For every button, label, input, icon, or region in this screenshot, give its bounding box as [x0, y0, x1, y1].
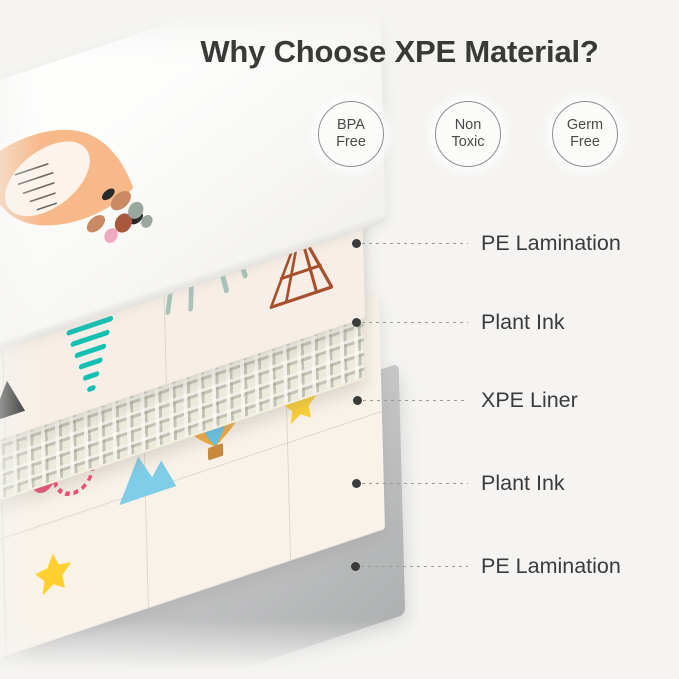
- page-title: Why Choose XPE Material?: [0, 34, 679, 70]
- infographic-canvas: Why Choose XPE Material? BPA Free Non To…: [0, 0, 679, 679]
- callout-label: PE Lamination: [481, 231, 621, 256]
- badge-germ-free-line2: Free: [570, 134, 600, 151]
- star-icon: [32, 544, 75, 604]
- badge-non-toxic-line2: Toxic: [451, 134, 484, 151]
- callout-label: PE Lamination: [481, 554, 621, 579]
- callout-label: XPE Liner: [481, 388, 578, 413]
- callout-dot: [352, 318, 361, 327]
- callout-dot: [353, 396, 362, 405]
- callout-xpe-liner: XPE Liner: [353, 386, 578, 414]
- badge-bpa-free-line2: Free: [336, 134, 366, 151]
- callout-plant-ink-bottom: Plant Ink: [352, 469, 565, 497]
- callout-leader-line: [363, 400, 468, 401]
- callout-leader-line: [362, 483, 468, 484]
- callout-dot: [352, 239, 361, 248]
- badge-bpa-free[interactable]: BPA Free: [318, 101, 384, 167]
- badge-non-toxic-line1: Non: [455, 117, 482, 134]
- callout-plant-ink-top: Plant Ink: [352, 308, 565, 336]
- badge-non-toxic[interactable]: Non Toxic: [435, 101, 501, 167]
- badge-bpa-free-line1: BPA: [337, 117, 365, 134]
- callout-leader-line: [361, 566, 468, 567]
- badge-germ-free[interactable]: Germ Free: [552, 101, 618, 167]
- callout-leader-line: [362, 322, 468, 323]
- callout-label: Plant Ink: [481, 310, 565, 335]
- callout-pe-lamination-bottom: PE Lamination: [351, 552, 621, 580]
- callout-dot: [352, 479, 361, 488]
- certification-badges: BPA Free Non Toxic Germ Free: [318, 101, 618, 167]
- callout-label: Plant Ink: [481, 471, 565, 496]
- callout-pe-lamination-top: PE Lamination: [352, 229, 621, 257]
- badge-germ-free-line1: Germ: [567, 117, 603, 134]
- callout-dot: [351, 562, 360, 571]
- callout-leader-line: [362, 243, 468, 244]
